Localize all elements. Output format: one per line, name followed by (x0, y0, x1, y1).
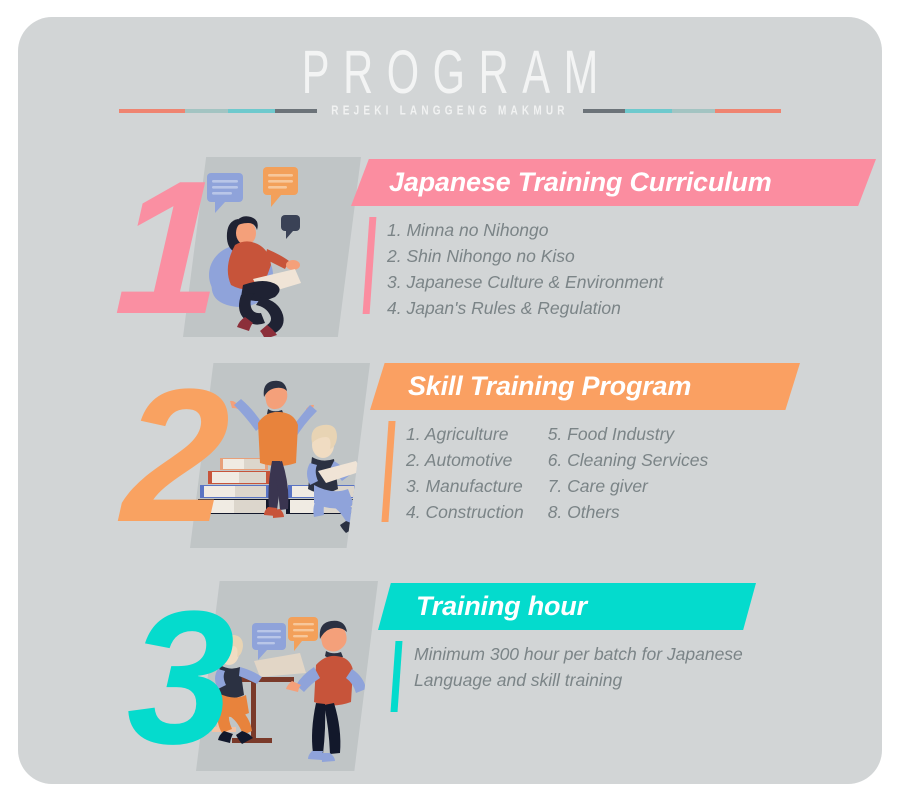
divider-segment-salmon (715, 109, 781, 113)
section-number-2: 2 (120, 361, 228, 551)
accent-bar-2 (381, 421, 395, 522)
section-title-3: Training hour (416, 591, 587, 622)
list-item: 6. Cleaning Services (548, 447, 709, 473)
list-column-1: 1. Agriculture 2. Automotive 3. Manufact… (406, 421, 524, 525)
section-description-3: Minimum 300 hour per batch for Japanese … (414, 641, 814, 712)
section-number-3: 3 (125, 583, 233, 773)
list-item: 3. Manufacture (406, 473, 524, 499)
list-item: 4. Japan's Rules & Regulation (387, 295, 663, 321)
page-subtitle: REJEKI LANGGENG MAKMUR (317, 104, 582, 118)
section-title-1: Japanese Training Curriculum (389, 167, 772, 198)
section-banner-3: Training hour (378, 583, 756, 630)
section-content-3: Training hour Minimum 300 hour per batch… (378, 583, 814, 712)
section-1: 1 (18, 129, 882, 329)
list-column-1: 1. Minna no Nihongo 2. Shin Nihongo no K… (387, 217, 663, 321)
section-banner-1: Japanese Training Curriculum (351, 159, 876, 206)
header: PROGRAM REJEKI LANGGENG MAKMUR (18, 17, 882, 132)
accent-bar-3 (391, 641, 403, 712)
section-body-2: 1. Agriculture 2. Automotive 3. Manufact… (370, 421, 800, 525)
subtitle-row: REJEKI LANGGENG MAKMUR (18, 100, 882, 122)
divider-segment-teal (625, 109, 672, 113)
section-content-2: Skill Training Program 1. Agriculture 2.… (370, 363, 800, 525)
section-2: 2 (18, 337, 882, 542)
divider-segment-gray (583, 109, 625, 113)
list-item: 2. Shin Nihongo no Kiso (387, 243, 663, 269)
list-item: 3. Japanese Culture & Environment (387, 269, 663, 295)
section-title-2: Skill Training Program (408, 371, 691, 402)
divider-segment-muted-teal (672, 109, 715, 113)
page-title: PROGRAM (104, 38, 795, 108)
section-list-1: 1. Minna no Nihongo 2. Shin Nihongo no K… (387, 217, 663, 321)
list-item: 2. Automotive (406, 447, 524, 473)
section-number-1: 1 (113, 153, 221, 343)
sitting-person (307, 425, 362, 533)
list-item: 4. Construction (406, 499, 524, 525)
list-item: 1. Agriculture (406, 421, 524, 447)
divider-right (583, 109, 781, 113)
infographic-card: PROGRAM REJEKI LANGGENG MAKMUR 1 (18, 17, 882, 784)
section-content-1: Japanese Training Curriculum 1. Minna no… (351, 159, 876, 321)
divider-segment-gray (275, 109, 317, 113)
list-item: 1. Minna no Nihongo (387, 217, 663, 243)
section-3: 3 (18, 553, 882, 768)
section-banner-2: Skill Training Program (370, 363, 800, 410)
divider-segment-teal (228, 109, 275, 113)
accent-bar-1 (363, 217, 377, 314)
divider-left (119, 109, 317, 113)
section-list-2: 1. Agriculture 2. Automotive 3. Manufact… (406, 421, 708, 525)
list-column-2: 5. Food Industry 6. Cleaning Services 7.… (548, 421, 709, 525)
divider-segment-muted-teal (185, 109, 228, 113)
section-body-3: Minimum 300 hour per batch for Japanese … (378, 641, 814, 712)
section-body-1: 1. Minna no Nihongo 2. Shin Nihongo no K… (351, 217, 876, 321)
list-item: 8. Others (548, 499, 709, 525)
list-item: 5. Food Industry (548, 421, 709, 447)
list-item: 7. Care giver (548, 473, 709, 499)
divider-segment-salmon (119, 109, 185, 113)
